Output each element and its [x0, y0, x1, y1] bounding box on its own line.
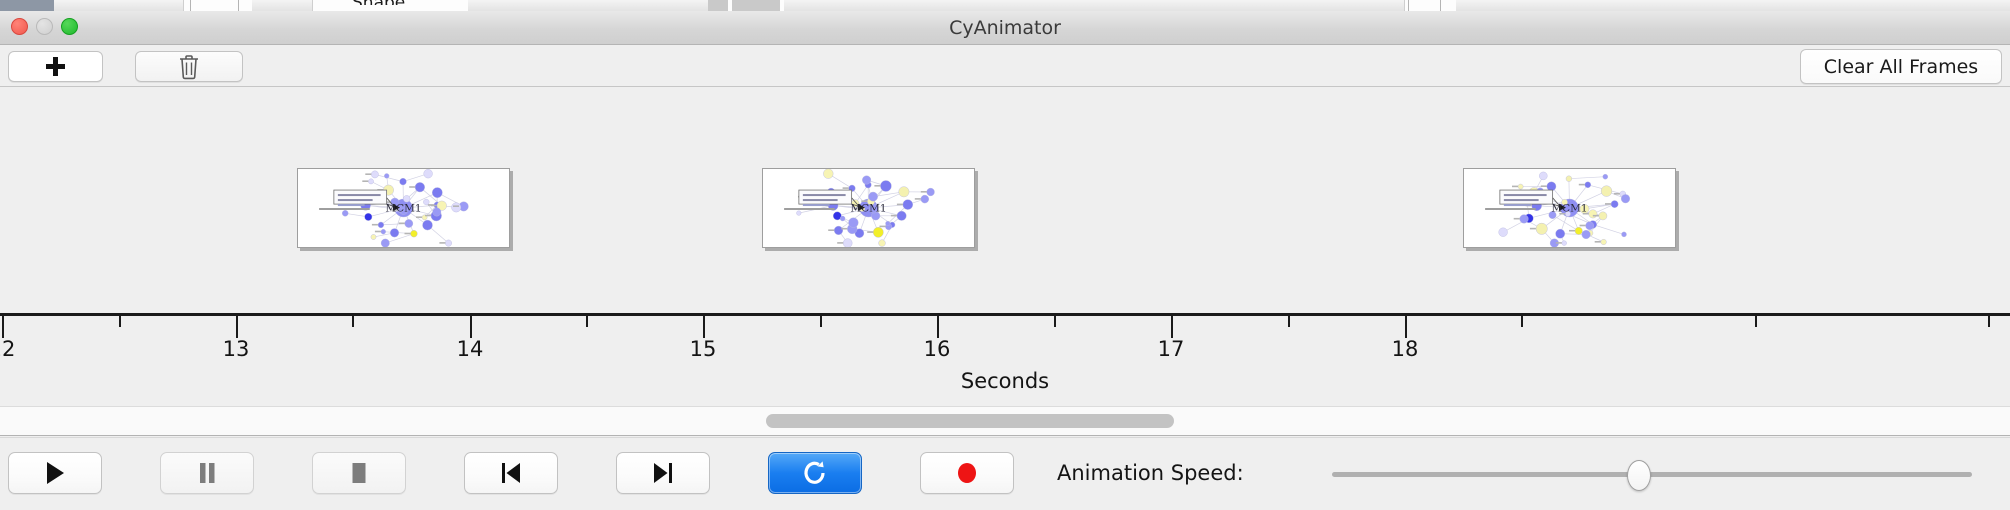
ruler-minor-tick: [1988, 316, 1990, 327]
ruler-minor-tick: [1054, 316, 1056, 327]
skip-forward-button[interactable]: [616, 452, 710, 494]
ruler-tick-label: 14: [457, 337, 484, 361]
ruler-major-tick: [1171, 316, 1173, 338]
ruler-minor-tick: [820, 316, 822, 327]
ruler-major-tick: [236, 316, 238, 338]
svg-text:MCM1: MCM1: [1551, 203, 1587, 215]
ruler-tick-label: 12: [0, 337, 15, 361]
animation-speed-slider[interactable]: [1332, 472, 1972, 477]
pause-icon: [196, 460, 218, 486]
minimize-icon[interactable]: [36, 18, 53, 35]
loop-button[interactable]: [768, 452, 862, 494]
playback-control-bar: Animation Speed:: [0, 437, 2010, 510]
ruler-major-tick: [1405, 316, 1407, 338]
stop-button: [312, 452, 406, 494]
ruler-tick-label: 17: [1158, 337, 1185, 361]
window-controls: [11, 18, 78, 35]
scrollbar-thumb[interactable]: [766, 414, 1174, 428]
axis-title: Seconds: [0, 369, 2010, 393]
slider-thumb[interactable]: [1627, 460, 1651, 491]
close-icon[interactable]: [11, 18, 28, 35]
delete-frame-button[interactable]: [135, 51, 243, 82]
timeline-frame[interactable]: MCM1: [297, 168, 510, 248]
skip-back-icon: [498, 460, 524, 486]
ruler-major-tick: [2, 316, 4, 338]
skip-forward-icon: [650, 460, 676, 486]
ruler-tick-label: 13: [223, 337, 250, 361]
ruler-tick-label: 16: [924, 337, 951, 361]
svg-text:MCM1: MCM1: [385, 203, 421, 215]
svg-text:MCM1: MCM1: [850, 203, 886, 215]
clear-all-frames-label: Clear All Frames: [1824, 56, 1978, 78]
ruler-major-tick: [937, 316, 939, 338]
ruler-minor-tick: [1755, 316, 1757, 327]
ruler-minor-tick: [1288, 316, 1290, 327]
add-frame-button[interactable]: [8, 51, 103, 82]
maximize-icon[interactable]: [61, 18, 78, 35]
timeline-ruler: 12131415161718 Seconds: [0, 313, 2010, 406]
ruler-minor-tick: [586, 316, 588, 327]
ruler-minor-tick: [119, 316, 121, 327]
animation-speed-label: Animation Speed:: [1057, 452, 1244, 494]
title-bar: CyAnimator: [0, 11, 2010, 45]
ruler-baseline: [0, 313, 2010, 316]
skip-back-button[interactable]: [464, 452, 558, 494]
background-window-label: Shape: [352, 0, 462, 5]
play-icon: [43, 460, 67, 486]
loop-icon: [802, 459, 828, 487]
stop-icon: [348, 460, 370, 486]
frame-toolbar: Clear All Frames: [0, 45, 2010, 87]
plus-icon: [46, 57, 65, 76]
timeline-panel[interactable]: MCM1 MCM1 MCM1 12131415161718 Seconds: [0, 87, 2010, 406]
clear-all-frames-button[interactable]: Clear All Frames: [1800, 49, 2002, 84]
ruler-minor-tick: [352, 316, 354, 327]
record-icon: [954, 460, 980, 486]
background-window-strip: Shape: [0, 0, 2010, 11]
ruler-minor-tick: [1521, 316, 1523, 327]
timeline-horizontal-scrollbar[interactable]: [0, 406, 2010, 436]
cyanimator-window: Shape CyAnimator: [0, 0, 2010, 510]
timeline-frame[interactable]: MCM1: [762, 168, 975, 248]
pause-button: [160, 452, 254, 494]
timeline-frame[interactable]: MCM1: [1463, 168, 1676, 248]
ruler-major-tick: [470, 316, 472, 338]
ruler-major-tick: [703, 316, 705, 338]
ruler-tick-label: 15: [690, 337, 717, 361]
window-title: CyAnimator: [0, 11, 2010, 45]
trash-icon: [178, 54, 200, 80]
record-button[interactable]: [920, 452, 1014, 494]
play-button[interactable]: [8, 452, 102, 494]
ruler-tick-label: 18: [1392, 337, 1419, 361]
